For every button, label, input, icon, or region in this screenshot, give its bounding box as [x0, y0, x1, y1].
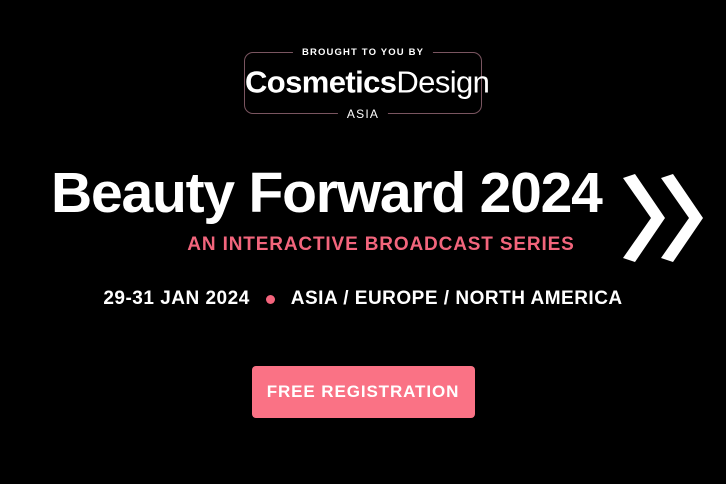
dot-separator-icon: [266, 295, 275, 304]
cta-wrapper: FREE REGISTRATION: [0, 366, 726, 418]
wordmark-bold-part: Cosmetics: [245, 64, 396, 99]
wordmark-light-part: Design: [396, 64, 489, 99]
logo-box: BROUGHT TO YOU BY CosmeticsDesign ASIA: [244, 52, 482, 114]
logo-region-tag: ASIA: [338, 106, 388, 122]
event-dates: 29-31 JAN 2024: [103, 287, 249, 311]
promo-banner: BROUGHT TO YOU BY CosmeticsDesign ASIA B…: [0, 0, 726, 484]
cosmetics-design-wordmark: CosmeticsDesign: [245, 65, 481, 99]
logo-lockup: BROUGHT TO YOU BY CosmeticsDesign ASIA: [0, 52, 726, 114]
event-regions: ASIA / EUROPE / NORTH AMERICA: [291, 287, 623, 311]
event-meta-row: 29-31 JAN 2024 ASIA / EUROPE / NORTH AME…: [0, 287, 726, 311]
brought-to-you-by-label: BROUGHT TO YOU BY: [293, 45, 433, 60]
page-subtitle: AN INTERACTIVE BROADCAST SERIES: [51, 233, 711, 257]
page-title: Beauty Forward 2024: [51, 160, 602, 226]
free-registration-button[interactable]: FREE REGISTRATION: [252, 366, 475, 418]
